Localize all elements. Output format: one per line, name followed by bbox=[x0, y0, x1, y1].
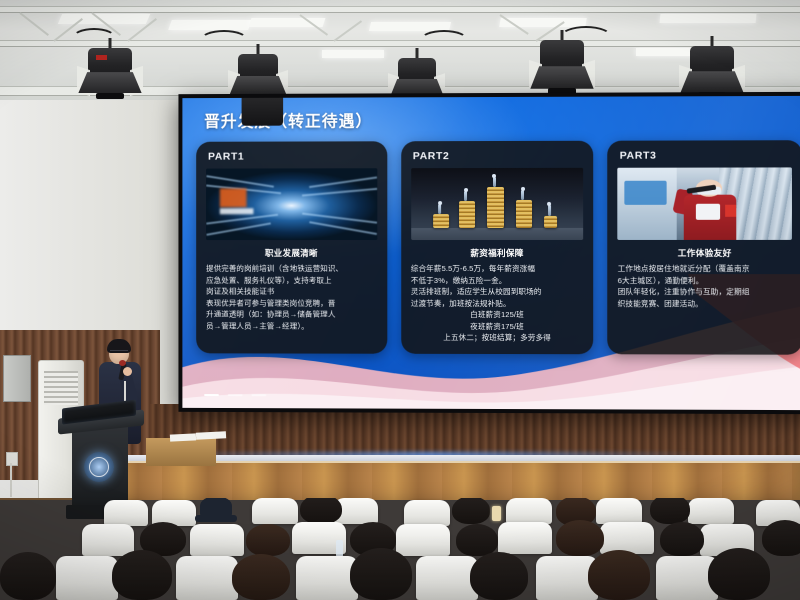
presenter-hand bbox=[123, 367, 132, 376]
stage-spotlight bbox=[88, 38, 132, 100]
coin-stack bbox=[516, 200, 532, 229]
auditorium-seat bbox=[498, 522, 552, 554]
card-tag-part3: PART3 bbox=[620, 149, 792, 161]
audience-head bbox=[660, 522, 704, 556]
coin-stack bbox=[459, 201, 475, 228]
pagination-dot[interactable] bbox=[228, 394, 243, 397]
ceiling-light-panel bbox=[168, 20, 252, 30]
card-heading-part2: 薪资福利保障 bbox=[411, 247, 584, 259]
figurine bbox=[438, 204, 441, 214]
slide-card-part2[interactable]: PART2 bbox=[401, 141, 594, 354]
audience-head bbox=[232, 554, 290, 600]
card-line: 岗证及相关技能证书 bbox=[206, 286, 377, 298]
auditorium-seat bbox=[404, 500, 450, 526]
coin-stacks-growth-image bbox=[411, 168, 584, 240]
side-table-with-papers bbox=[146, 438, 216, 466]
audience-head bbox=[452, 498, 490, 524]
slide-card-part1[interactable]: PART1 bbox=[196, 141, 387, 353]
attendant-collar bbox=[696, 204, 720, 220]
auditorium-seat bbox=[596, 498, 642, 524]
motion-streak bbox=[206, 223, 270, 236]
audience-head bbox=[708, 548, 770, 600]
auditorium-seat bbox=[416, 556, 478, 600]
coin-stack bbox=[433, 214, 448, 228]
arm-band bbox=[726, 205, 736, 217]
card-line-centered: 白班薪资125/班 bbox=[411, 309, 584, 321]
figurine bbox=[493, 177, 496, 187]
card-line: 提供完善的岗前培训（含地铁运营知识、 bbox=[206, 263, 377, 275]
water-bottle bbox=[336, 540, 343, 557]
card-line: 6大主城区），通勤便利。 bbox=[618, 275, 792, 287]
metro-attendant-photo-image bbox=[618, 167, 792, 240]
figurine bbox=[521, 190, 524, 200]
auditorium-seat bbox=[506, 498, 552, 524]
hanging-cable bbox=[420, 30, 468, 50]
card-line-centered: 上五休二；按班结算；多劳多得 bbox=[411, 332, 584, 344]
card-body-part1: 提供完善的岗前培训（含地铁运营知识、 应急处置、服务礼仪等），支持考取上 岗证及… bbox=[206, 263, 377, 332]
audience-head bbox=[350, 548, 412, 600]
light-fixture-occluding-title bbox=[242, 96, 284, 126]
card-heading-part3: 工作体验友好 bbox=[618, 247, 792, 259]
auditorium-seat bbox=[82, 524, 134, 556]
card-line: 织技能竞赛、团建活动。 bbox=[618, 298, 792, 310]
led-presentation-screen[interactable]: 晋升发展（转正待遇） PART1 bbox=[178, 92, 800, 414]
card-tag-part1: PART1 bbox=[208, 150, 377, 162]
slide-card-part3[interactable]: PART3 bbox=[608, 140, 800, 354]
audience-head bbox=[556, 520, 604, 556]
train-window bbox=[625, 181, 667, 206]
slide-title: 晋升发展（转正待遇） bbox=[204, 107, 372, 131]
institution-emblem bbox=[84, 452, 114, 482]
coins-illustration bbox=[411, 168, 584, 240]
auditorium-seat bbox=[176, 556, 238, 600]
tunnel-sign-orange bbox=[220, 189, 247, 208]
ceiling-light-panel bbox=[322, 50, 384, 58]
audience-head bbox=[650, 498, 690, 524]
auditorium-seat bbox=[600, 522, 654, 554]
card-heading-part1: 职业发展清晰 bbox=[206, 247, 377, 259]
card-body-part2: 综合年薪5.5万-6.5万，每年薪资涨幅 不低于3%，缴纳五险一金。 灵活排班制… bbox=[411, 263, 584, 344]
spotlight-barndoor bbox=[530, 66, 593, 88]
spotlight-label bbox=[96, 55, 107, 59]
card-line: 员→管理人员→主管→经理）。 bbox=[206, 320, 377, 332]
audience-head bbox=[762, 520, 800, 556]
audience-head bbox=[246, 524, 290, 556]
auditorium-seat bbox=[104, 500, 148, 526]
auditorium-seat bbox=[252, 498, 298, 524]
baseball-cap bbox=[200, 498, 232, 516]
card-line: 综合年薪5.5万-6.5万，每年薪资涨幅 bbox=[411, 263, 584, 275]
card-line: 团队年轻化，注重协作与互助，定期组 bbox=[618, 286, 792, 298]
spotlight-lens bbox=[96, 93, 124, 99]
audience-seating bbox=[0, 498, 800, 600]
audience-head bbox=[470, 552, 528, 600]
card-tag-part2: PART2 bbox=[413, 150, 584, 162]
spotlight-barndoor bbox=[680, 71, 743, 93]
slide-canvas: 晋升发展（转正待遇） PART1 bbox=[182, 96, 800, 410]
coin-stack bbox=[544, 215, 558, 228]
stage-spotlight bbox=[690, 36, 734, 100]
auditorium-scene: 晋升发展（转正待遇） PART1 bbox=[0, 0, 800, 600]
stage-spotlight bbox=[540, 30, 584, 96]
coin-ground bbox=[411, 228, 584, 240]
pagination-dot-active[interactable] bbox=[204, 394, 219, 397]
motion-streak bbox=[309, 221, 377, 235]
motion-streak bbox=[302, 188, 377, 197]
auditorium-seat bbox=[396, 524, 450, 556]
truss-brace bbox=[333, 20, 362, 42]
tunnel-platform-light bbox=[220, 209, 254, 215]
card-line-centered: 夜班薪资175/班 bbox=[411, 321, 584, 333]
slide-pagination-dots[interactable] bbox=[204, 394, 266, 397]
figurine bbox=[464, 191, 467, 201]
ceiling-truss bbox=[0, 6, 800, 13]
smartphone bbox=[492, 506, 501, 521]
paper-sheet bbox=[170, 433, 196, 441]
audience-head bbox=[588, 550, 650, 600]
audience-head bbox=[112, 550, 172, 600]
metro-tunnel-motion-blur-image bbox=[206, 168, 377, 240]
audience-head bbox=[0, 552, 56, 600]
truss-brace bbox=[19, 12, 49, 36]
tunnel-illustration bbox=[206, 168, 377, 240]
auditorium-seat bbox=[56, 556, 118, 600]
eyeglasses-icon bbox=[110, 350, 128, 355]
ac-vent-grill bbox=[61, 371, 77, 405]
auditorium-seat bbox=[296, 556, 358, 600]
card-line: 工作地点按居住地就近分配（覆盖南京 bbox=[618, 263, 792, 275]
card-line: 过渡节奏，加班按法规补贴。 bbox=[411, 298, 584, 310]
card-line: 灵活排班制，适应学生从校园到职场的 bbox=[411, 286, 584, 298]
wall-outlet bbox=[6, 452, 18, 466]
motion-streak bbox=[309, 176, 377, 188]
spotlight-barndoor bbox=[78, 72, 141, 93]
card-line: 不低于3%，缴纳五险一金。 bbox=[411, 274, 584, 286]
auditorium-seat bbox=[688, 498, 734, 524]
power-cord bbox=[10, 463, 12, 497]
slide-cards-row: PART1 bbox=[196, 140, 800, 354]
figurine bbox=[548, 205, 551, 215]
electrical-distribution-panel bbox=[3, 355, 31, 402]
ceiling-light-panel bbox=[660, 14, 757, 23]
spotlight-barndoor bbox=[229, 76, 287, 96]
coin-stack bbox=[487, 187, 504, 229]
audience-head bbox=[456, 524, 498, 556]
card-line: 应急处置、服务礼仪等），支持考取上 bbox=[206, 274, 377, 286]
card-line: 表现优异者可参与管理类岗位竞聘，晋 bbox=[206, 297, 377, 309]
pagination-dot[interactable] bbox=[251, 394, 266, 397]
card-body-part3: 工作地点按居住地就近分配（覆盖南京 6大主城区），通勤便利。 团队年轻化，注重协… bbox=[618, 263, 792, 309]
microphone-head bbox=[119, 360, 126, 366]
card-line: 升通道透明（如：协理员→储备管理人 bbox=[206, 309, 377, 321]
attendant-illustration bbox=[618, 167, 792, 240]
auditorium-seat bbox=[190, 524, 244, 556]
audience-head bbox=[300, 498, 342, 524]
